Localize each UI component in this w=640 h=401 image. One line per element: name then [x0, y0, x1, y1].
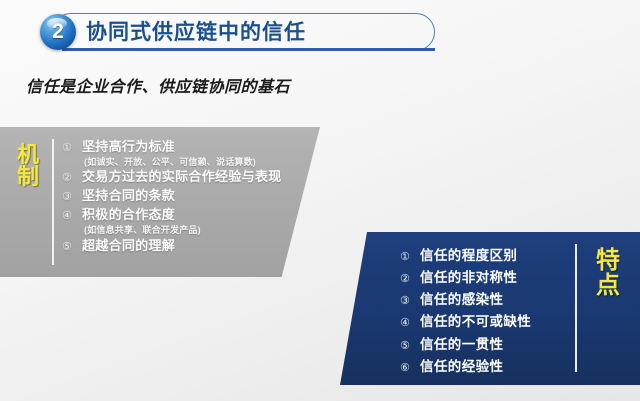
list-item-number: ⑥ [400, 361, 420, 374]
characteristics-list: ① 信任的程度区别 ② 信任的非对称性 ③ 信任的感染性 ④ 信任的不可或缺性 … [400, 245, 570, 378]
list-item-label: 信任的一贯性 [420, 334, 503, 356]
characteristics-label-char-1: 特 [592, 248, 624, 273]
subtitle-text: 信任是企业合作、供应链协同的基石 [26, 73, 290, 97]
list-item-number: ① [400, 250, 420, 263]
characteristics-divider [575, 244, 577, 372]
mechanism-label-char-2: 制 [14, 166, 42, 188]
list-item-label: 坚持高行为标准 [82, 138, 175, 157]
list-item-label: 信任的感染性 [420, 289, 503, 311]
list-item-number: ③ [62, 190, 82, 203]
list-item: ⑤ 信任的一贯性 [400, 334, 570, 356]
list-item-label: 积极的合作态度 [82, 206, 175, 225]
list-item: ② 信任的非对称性 [400, 267, 570, 289]
list-item-number: ② [62, 171, 82, 184]
list-item-label: 信任的程度区别 [420, 245, 517, 267]
mechanism-list: ① 坚持高行为标准 (如诚实、开放、公平、可信赖、说话算数) ② 交易方过去的实… [62, 138, 312, 255]
list-item: ⑥ 信任的经验性 [400, 356, 570, 378]
slide-header: 2 协同式供应链中的信任 [0, 0, 640, 66]
list-item: ⑤ 超越合同的理解 [62, 237, 312, 256]
list-item: ④ 信任的不可或缺性 [400, 311, 570, 333]
title-underline [62, 48, 435, 51]
list-item-label: 超越合同的理解 [82, 237, 175, 256]
characteristics-panel: ① 信任的程度区别 ② 信任的非对称性 ③ 信任的感染性 ④ 信任的不可或缺性 … [340, 232, 640, 385]
list-item-label: 信任的不可或缺性 [420, 311, 531, 333]
mechanism-vertical-label: 机 制 [14, 144, 42, 189]
list-item-subtext: (如诚实、开放、公平、可信赖、说话算数) [84, 156, 312, 169]
list-item-label: 坚持合同的条款 [82, 187, 175, 206]
list-item-label: 交易方过去的实际合作经验与表现 [82, 168, 282, 187]
list-item-number: ② [400, 272, 420, 285]
page-title: 协同式供应链中的信任 [86, 16, 306, 46]
list-item: ① 坚持高行为标准 [62, 138, 312, 157]
list-item-number: ④ [400, 316, 420, 329]
characteristics-label-char-2: 点 [592, 273, 624, 298]
characteristics-vertical-label: 特 点 [592, 248, 624, 299]
list-item-number: ④ [62, 209, 82, 222]
list-item: ① 信任的程度区别 [400, 245, 570, 267]
list-item-number: ③ [400, 294, 420, 307]
section-number-label: 2 [40, 14, 76, 50]
slide-canvas: 2 协同式供应链中的信任 信任是企业合作、供应链协同的基石 机 制 ① 坚持高行… [0, 0, 640, 401]
mechanism-label-char-1: 机 [14, 144, 42, 166]
list-item-subtext: (如信息共享、联合开发产品) [84, 224, 312, 237]
list-item-label: 信任的非对称性 [420, 267, 517, 289]
mechanism-divider [52, 139, 54, 265]
list-item: ③ 信任的感染性 [400, 289, 570, 311]
section-number-badge: 2 [40, 14, 76, 50]
list-item-number: ⑤ [62, 240, 82, 253]
mechanism-panel: 机 制 ① 坚持高行为标准 (如诚实、开放、公平、可信赖、说话算数) ② 交易方… [0, 127, 320, 277]
list-item-number: ⑤ [400, 339, 420, 352]
list-item: ② 交易方过去的实际合作经验与表现 [62, 168, 312, 187]
list-item: ④ 积极的合作态度 [62, 206, 312, 225]
list-item: ③ 坚持合同的条款 [62, 187, 312, 206]
list-item-number: ① [62, 141, 82, 154]
list-item-label: 信任的经验性 [420, 356, 503, 378]
